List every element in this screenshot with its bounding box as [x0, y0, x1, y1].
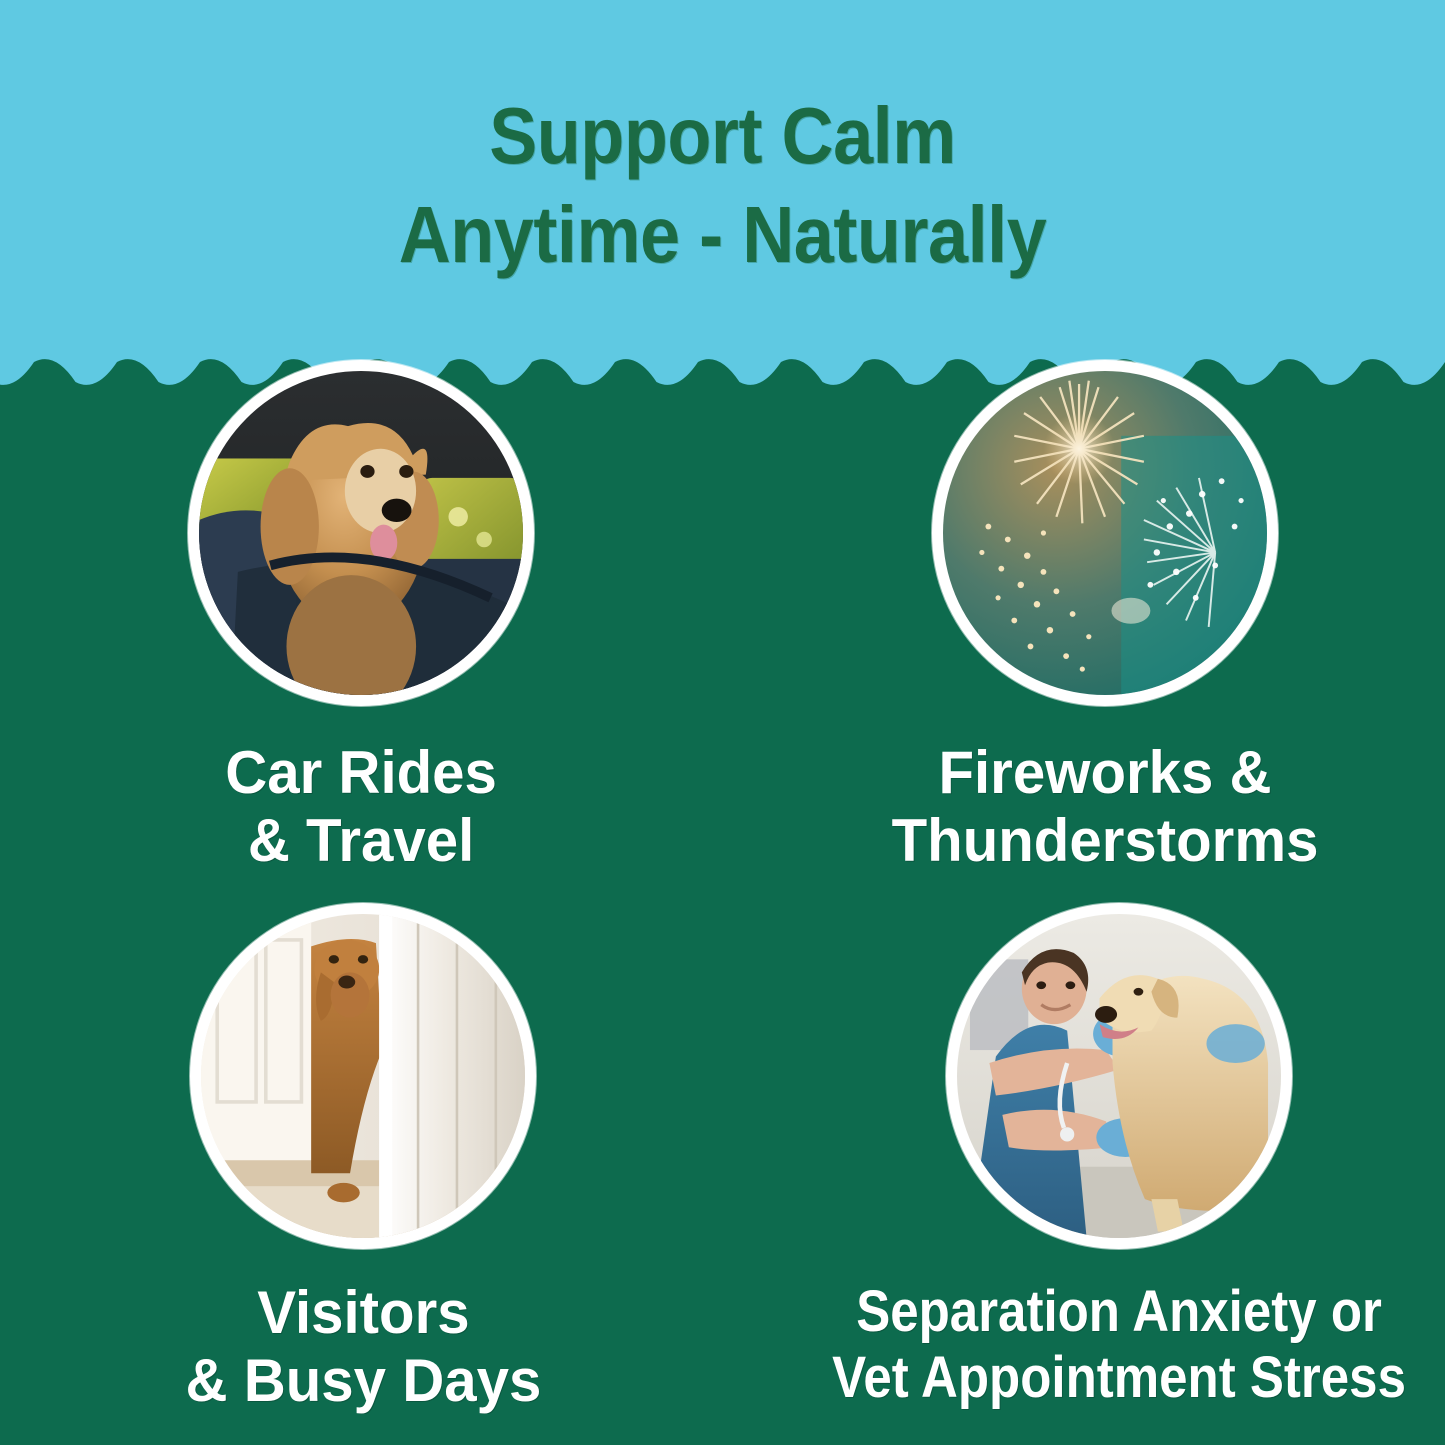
page-title-line-1: Support Calm	[72, 86, 1373, 185]
page-title-line-2: Anytime - Naturally	[72, 185, 1373, 284]
benefit-card-car-rides: Car Rides & Travel	[0, 360, 705, 903]
caption-visitors: Visitors & Busy Days	[186, 1279, 542, 1416]
vet-with-dog-image	[957, 914, 1281, 1238]
caption-car-rides: Car Rides & Travel	[226, 739, 498, 876]
photo-ring-visitors	[190, 903, 536, 1249]
photo-car-rides	[199, 371, 523, 695]
photo-ring-fireworks	[932, 360, 1278, 706]
caption-line-1: Car Rides	[226, 739, 498, 807]
benefit-card-grid: Car Rides & Travel	[0, 360, 1445, 1445]
caption-line-1: Visitors	[186, 1279, 542, 1347]
benefit-card-visitors: Visitors & Busy Days	[0, 903, 705, 1445]
page-title: Support Calm Anytime - Naturally	[72, 86, 1373, 284]
caption-line-2: Thunderstorms	[892, 807, 1319, 875]
photo-ring-car-rides	[188, 360, 534, 706]
caption-line-2: Vet Appointment Stress	[832, 1345, 1406, 1411]
dog-in-car-image	[199, 371, 523, 695]
benefit-card-fireworks: Fireworks & Thunderstorms	[705, 360, 1445, 903]
caption-fireworks: Fireworks & Thunderstorms	[892, 739, 1319, 876]
photo-fireworks	[943, 371, 1267, 695]
caption-line-1: Separation Anxiety or	[832, 1279, 1406, 1345]
fireworks-image	[943, 371, 1267, 695]
photo-ring-vet-visit	[946, 903, 1292, 1249]
caption-line-2: & Travel	[226, 807, 498, 875]
dog-at-door-image	[201, 914, 525, 1238]
photo-vet-visit	[957, 914, 1281, 1238]
photo-visitors	[201, 914, 525, 1238]
benefit-card-vet-visit: Separation Anxiety or Vet Appointment St…	[705, 903, 1445, 1445]
caption-line-1: Fireworks &	[892, 739, 1319, 807]
caption-line-2: & Busy Days	[186, 1347, 542, 1415]
caption-vet-visit: Separation Anxiety or Vet Appointment St…	[832, 1279, 1406, 1411]
